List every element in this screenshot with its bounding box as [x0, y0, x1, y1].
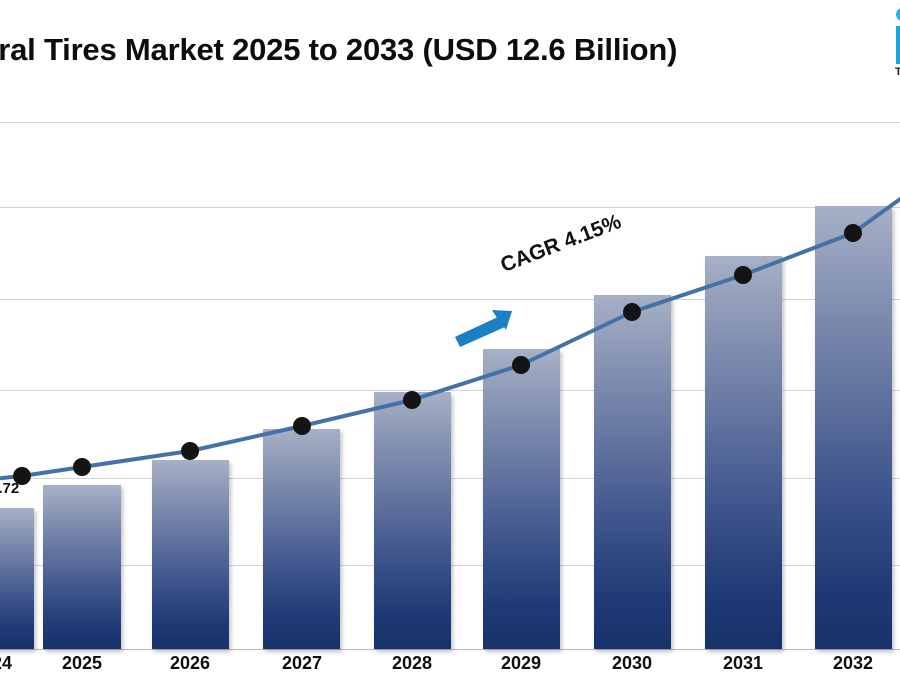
plot-area: 8.72 CAGR 4.15% 2024 2025 2026 202: [0, 104, 900, 700]
page-title: Agricultural Tires Market 2025 to 2033 (…: [0, 32, 677, 68]
x-axis-line: [0, 649, 900, 650]
bar-2032[interactable]: [815, 206, 892, 649]
logo-dot-icon: [896, 8, 900, 21]
gridline: [0, 207, 900, 208]
cagr-annotation: CAGR 4.15%: [497, 210, 624, 278]
bar-2028[interactable]: [374, 392, 451, 649]
x-tick-2026: 2026: [150, 653, 230, 674]
data-point-2026[interactable]: [181, 442, 199, 460]
bar-2027[interactable]: [263, 429, 340, 649]
x-tick-2025: 2025: [42, 653, 122, 674]
bar-2025[interactable]: [43, 485, 121, 649]
data-point-2025[interactable]: [73, 458, 91, 476]
title-bar: Agricultural Tires Market 2025 to 2033 (…: [0, 0, 900, 104]
cagr-arrow-icon: [455, 310, 512, 347]
bar-2031[interactable]: [705, 256, 782, 649]
x-tick-2031: 2031: [703, 653, 783, 674]
x-tick-2030: 2030: [592, 653, 672, 674]
logo-bar-icon: [896, 26, 900, 64]
bar-2029[interactable]: [483, 349, 560, 649]
logo-wordmark: T: [895, 66, 900, 78]
chart-figure: Agricultural Tires Market 2025 to 2033 (…: [0, 0, 900, 700]
x-tick-2024: 2024: [0, 653, 32, 674]
x-tick-2028: 2028: [372, 653, 452, 674]
brand-logo: T: [874, 6, 900, 84]
x-tick-2027: 2027: [262, 653, 342, 674]
x-tick-2029: 2029: [481, 653, 561, 674]
gridline: [0, 122, 900, 123]
bar-2030[interactable]: [594, 295, 671, 649]
bar-2026[interactable]: [152, 460, 229, 649]
bar-2024[interactable]: [0, 508, 34, 649]
bar-value-label-2024: 8.72: [0, 480, 19, 497]
x-tick-2032: 2032: [813, 653, 893, 674]
